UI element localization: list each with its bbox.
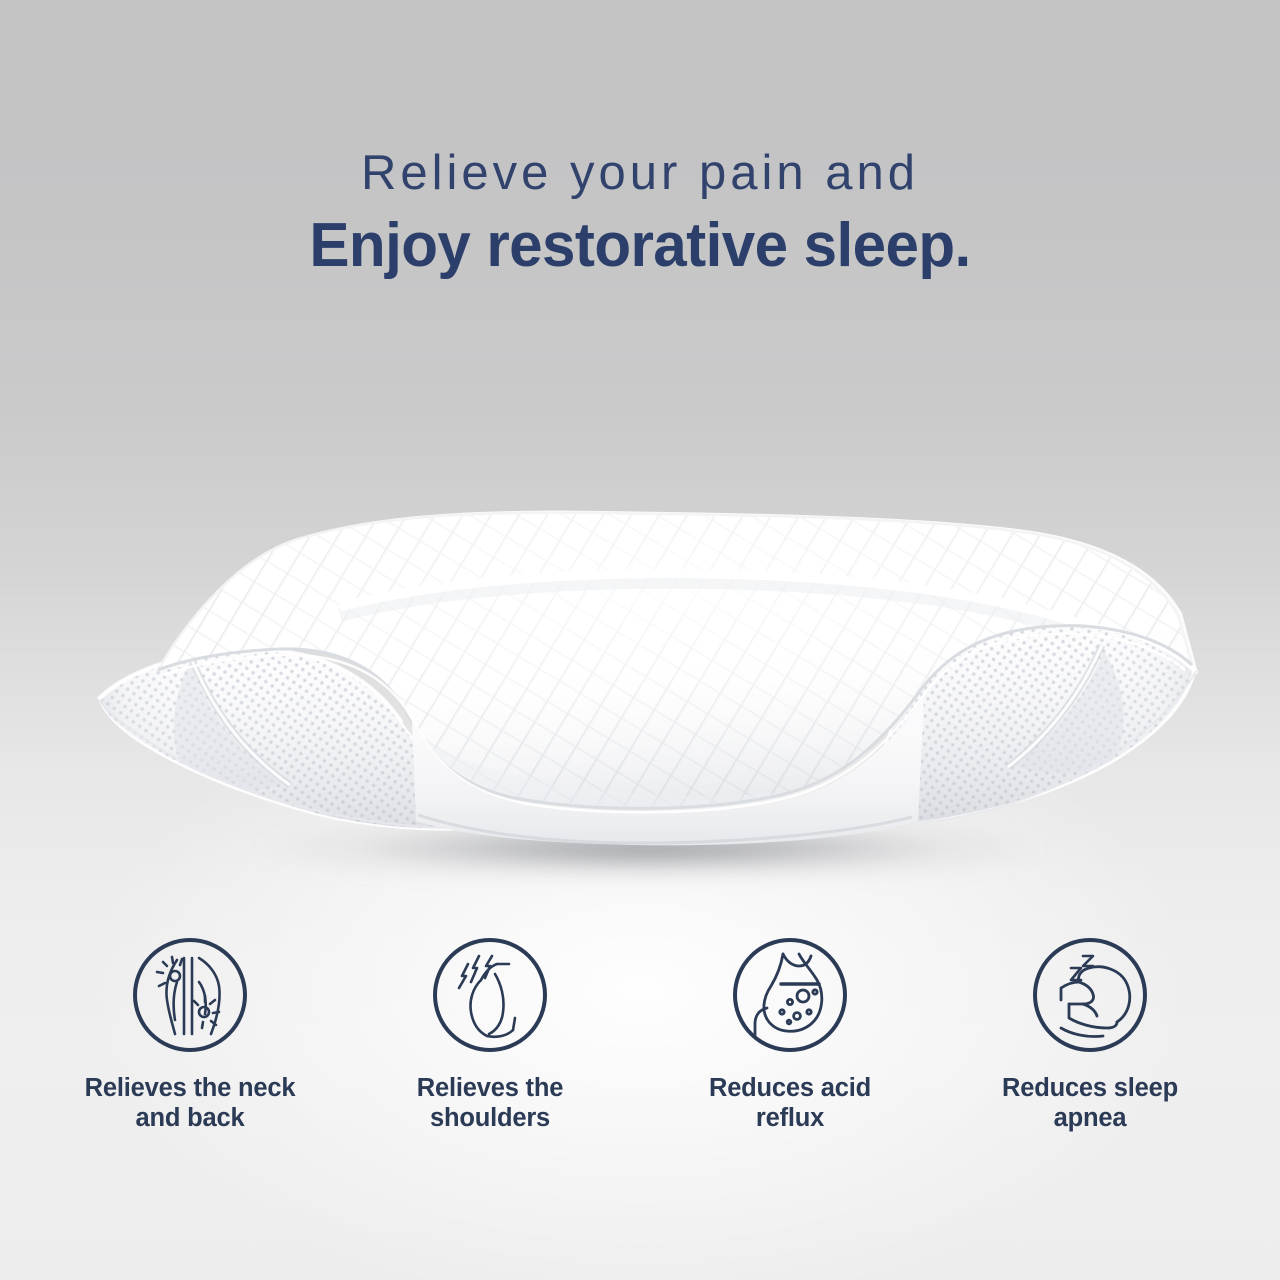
benefit-item-acid-reflux: Reduces acid reflux	[640, 938, 940, 1134]
product-image	[40, 495, 1245, 895]
benefit-label: Reduces acid reflux	[709, 1074, 871, 1134]
benefit-label: Relieves the neck and back	[85, 1074, 296, 1134]
benefit-item-neck-and-back: Relieves the neck and back	[40, 938, 340, 1134]
benefit-label: Relieves the shoulders	[417, 1074, 563, 1134]
page-title: Enjoy restorative sleep.	[19, 213, 1261, 278]
pillow-illustration	[40, 495, 1245, 895]
benefit-label: Reduces sleep apnea	[1002, 1074, 1178, 1134]
stomach-acid-reflux-icon	[733, 938, 847, 1052]
benefits-row: Relieves the neck and back	[40, 938, 1240, 1134]
back-spine-pain-icon	[133, 938, 247, 1052]
benefit-item-shoulders: Relieves the shoulders	[340, 938, 640, 1134]
headline-block: Relieve your pain and Enjoy restorative …	[0, 0, 1280, 278]
headline-kicker: Relieve your pain and	[0, 148, 1280, 199]
sleep-apnea-snoring-icon	[1033, 938, 1147, 1052]
benefit-item-sleep-apnea: Reduces sleep apnea	[940, 938, 1240, 1134]
shoulder-pain-icon	[433, 938, 547, 1052]
product-marketing-banner: Relieve your pain and Enjoy restorative …	[0, 0, 1280, 1280]
